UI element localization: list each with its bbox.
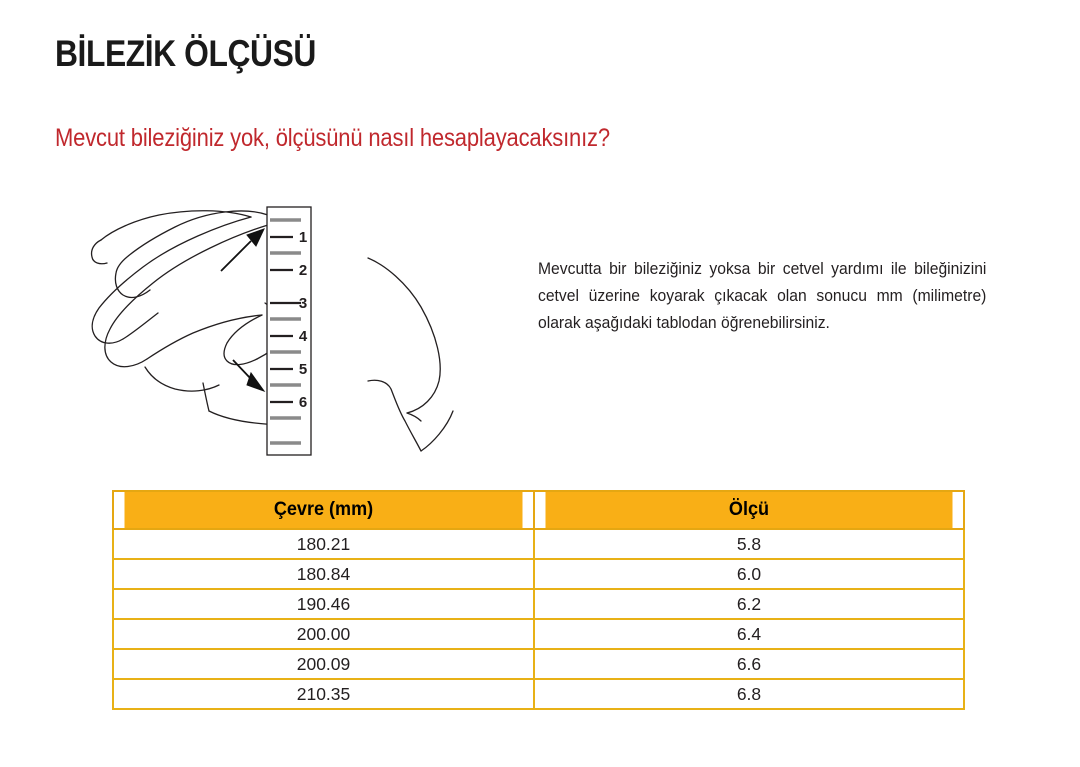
table-header-row: Çevre (mm) Ölçü	[113, 491, 964, 529]
size-table-header: Çevre (mm) Ölçü	[113, 491, 964, 529]
cell-size: 5.8	[534, 529, 964, 559]
cell-circumference: 180.84	[113, 559, 534, 589]
table-row: 180.84 6.0	[113, 559, 964, 589]
size-table: Çevre (mm) Ölçü 180.21 5.8 180.84 6.0 19…	[112, 490, 965, 710]
cell-size: 6.6	[534, 649, 964, 679]
arrow-group	[221, 229, 264, 391]
hand-with-ruler-illustration: 1 2 3 4 5 6	[55, 195, 455, 475]
cell-size: 6.0	[534, 559, 964, 589]
cell-size: 6.2	[534, 589, 964, 619]
pinky-knuckle	[145, 367, 219, 391]
table-row: 200.00 6.4	[113, 619, 964, 649]
palm-inner-curve	[224, 315, 262, 365]
forearm-lower	[421, 411, 453, 451]
table-row: 210.35 6.8	[113, 679, 964, 709]
cell-size: 6.4	[534, 619, 964, 649]
cell-size: 6.8	[534, 679, 964, 709]
page-subtitle: Mevcut bileziğiniz yok, ölçüsünü nasıl h…	[55, 124, 610, 153]
ruler-label-1: 1	[299, 229, 307, 246]
index-finger-under	[101, 211, 251, 240]
column-header-circumference: Çevre (mm)	[124, 491, 524, 529]
middle-finger-join	[123, 313, 158, 339]
forearm-outer	[368, 258, 440, 413]
arrow-upper-pointing-to-1	[221, 229, 264, 271]
cell-circumference: 190.46	[113, 589, 534, 619]
page-title: BİLEZİK ÖLÇÜSÜ	[55, 33, 316, 75]
cell-circumference: 210.35	[113, 679, 534, 709]
cell-circumference: 180.21	[113, 529, 534, 559]
arrow-lower-pointing-to-5	[233, 360, 264, 391]
ruler-label-6: 6	[299, 394, 307, 411]
lower-finger-top	[147, 315, 262, 359]
size-table-body: 180.21 5.8 180.84 6.0 190.46 6.2 200.00 …	[113, 529, 964, 709]
table-row: 180.21 5.8	[113, 529, 964, 559]
cell-circumference: 200.00	[113, 619, 534, 649]
column-header-size: Ölçü	[545, 491, 954, 529]
table-row: 200.09 6.6	[113, 649, 964, 679]
instruction-paragraph: Mevcutta bir bileziğiniz yoksa bir cetve…	[538, 256, 986, 337]
ruler-label-5: 5	[299, 361, 307, 378]
knuckle-bump	[92, 240, 107, 264]
ruler-label-3: 3	[299, 295, 307, 312]
index-finger-top-edge	[115, 211, 268, 297]
table-row: 190.46 6.2	[113, 589, 964, 619]
ruler-label-4: 4	[299, 328, 308, 345]
ruler-group: 1 2 3 4 5 6	[267, 207, 311, 455]
hand-ruler-svg: 1 2 3 4 5 6	[55, 195, 455, 475]
middle-finger-top	[92, 217, 251, 343]
pinky-crease	[203, 383, 209, 411]
ruler-label-2: 2	[299, 262, 307, 279]
ring-finger-top	[105, 225, 268, 367]
cell-circumference: 200.09	[113, 649, 534, 679]
forearm-tip	[407, 413, 421, 421]
